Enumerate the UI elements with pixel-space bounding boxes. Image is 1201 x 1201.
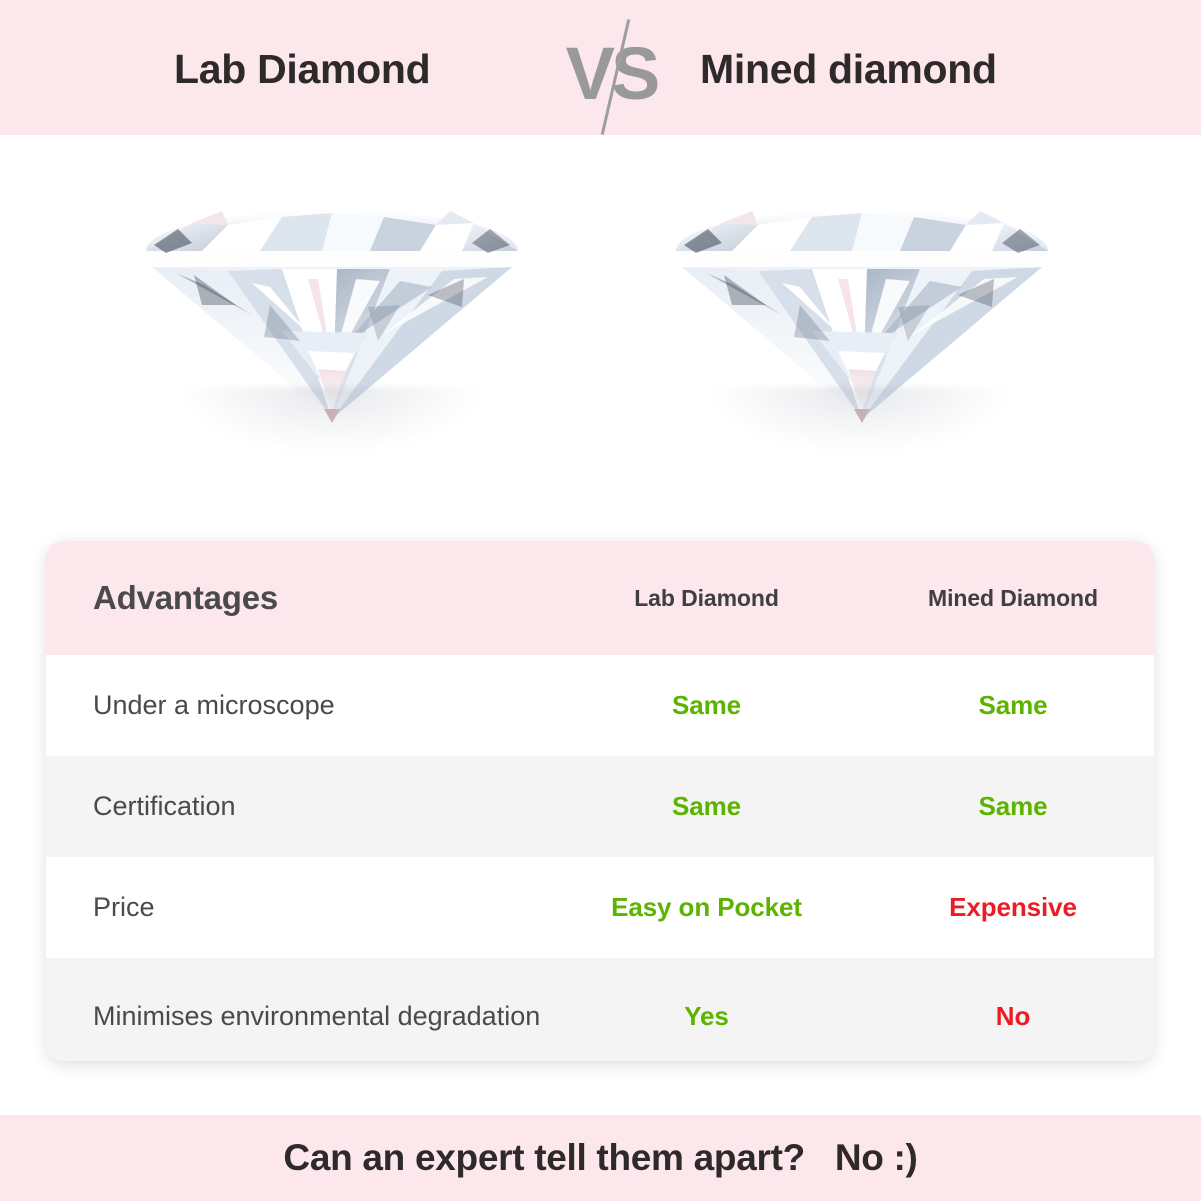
diamond-reflection	[180, 387, 480, 453]
footer-band: Can an expert tell them apart? No :)	[0, 1115, 1201, 1201]
row-mined-value: Same	[872, 690, 1154, 721]
diamond-reflection	[710, 387, 1010, 453]
table-header-mined-diamond: Mined Diamond	[872, 585, 1154, 612]
row-feature-label: Certification	[46, 787, 541, 825]
row-feature-label: Minimises environmental degradation	[46, 997, 541, 1035]
header-title-lab: Lab Diamond	[174, 46, 430, 93]
footer-question: Can an expert tell them apart? No :)	[283, 1137, 917, 1179]
vs-label: VS	[556, 24, 666, 124]
comparison-table: Advantages Lab Diamond Mined Diamond Und…	[46, 541, 1154, 1061]
table-header-advantages: Advantages	[46, 579, 541, 617]
table-header-row: Advantages Lab Diamond Mined Diamond	[46, 541, 1154, 655]
row-lab-value: Same	[541, 791, 872, 822]
row-lab-value: Yes	[541, 1001, 872, 1032]
diamond-image-lab	[132, 155, 532, 455]
table-row: Price Easy on Pocket Expensive	[46, 857, 1154, 958]
row-mined-value: Same	[872, 791, 1154, 822]
row-mined-value: Expensive	[872, 892, 1154, 923]
diamond-image-mined	[662, 155, 1062, 455]
vs-badge: VS	[556, 24, 666, 124]
row-lab-value: Same	[541, 690, 872, 721]
table-row: Certification Same Same	[46, 756, 1154, 857]
row-feature-label: Price	[46, 888, 541, 926]
row-feature-label: Under a microscope	[46, 686, 541, 724]
header-band: Lab Diamond VS Mined diamond	[0, 0, 1201, 135]
diamond-stage	[0, 135, 1201, 530]
header-title-mined: Mined diamond	[700, 46, 997, 93]
row-lab-value: Easy on Pocket	[541, 892, 872, 923]
table-row: Minimises environmental degradation Yes …	[46, 958, 1154, 1061]
table-row: Under a microscope Same Same	[46, 655, 1154, 756]
row-mined-value: No	[872, 1001, 1154, 1032]
table-header-lab-diamond: Lab Diamond	[541, 585, 872, 612]
